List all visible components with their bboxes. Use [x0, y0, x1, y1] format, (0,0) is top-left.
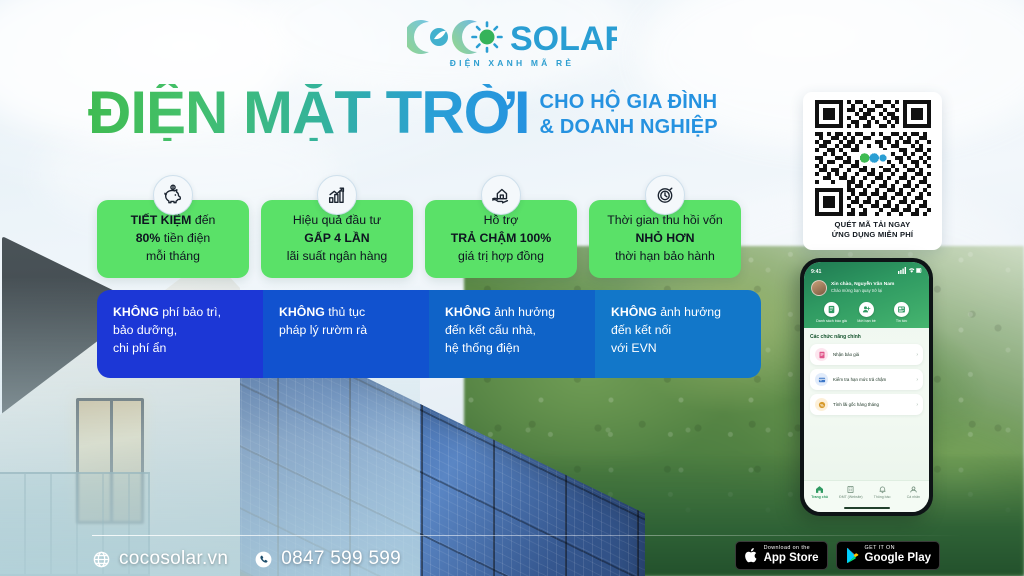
benefit-card[interactable]: Hỗ trợ TRẢ CHẬM 100% giá trị hợp đồng — [425, 200, 577, 278]
nav-label: ĐMT (Website) — [839, 495, 862, 499]
logo-mark: SOLAR — [407, 14, 617, 60]
globe-icon — [92, 550, 111, 569]
qr-caption-line1: QUÉT MÃ TẢI NGAY — [832, 220, 913, 230]
interest-calculator-icon: % — [815, 398, 828, 411]
no-card-line2: pháp lý rườm rà — [279, 323, 367, 337]
phone-menu-label: Kiểm tra hạn mức trả chậm — [833, 377, 911, 382]
no-card-rest: thủ tục — [325, 305, 365, 319]
benefit-line1: Hiệu quả đầu tư — [293, 213, 381, 227]
benefit-line1: Hỗ trợ — [484, 213, 519, 227]
phone-menu-label: Nhận báo giá — [833, 352, 911, 357]
phone-body: Các chức năng chính Nhận báo giá › Kiểm … — [804, 328, 929, 415]
banner-root: SOLAR ĐIỆN XANH MÃ RẺ ĐIỆN MẶT TRỜI CHO … — [0, 0, 1024, 576]
no-card-row: KHÔNG phí bảo trì, bảo dưỡng, chi phí ẩn… — [97, 290, 761, 378]
phone-menu-item[interactable]: Kiểm tra hạn mức trả chậm › — [810, 369, 923, 390]
phone-link[interactable]: 0847 599 599 — [254, 548, 401, 570]
user-icon — [909, 485, 918, 494]
phone-header: 9:41 Xin — [804, 262, 929, 328]
qr-caption-line2: ỨNG DỤNG MIỄN PHÍ — [832, 230, 913, 240]
qr-caption: QUÉT MÃ TẢI NGAY ỨNG DỤNG MIỄN PHÍ — [832, 220, 913, 241]
phone-bottom-nav: Trang chủ ĐMT (Website) Thông báo Cá nhâ… — [804, 480, 929, 512]
benefit-card-text: Thời gian thu hồi vốn NHỎ HƠN thời hạn b… — [601, 212, 728, 265]
benefit-line2-rest: tiền điện — [160, 231, 210, 245]
nav-item-dmt[interactable]: ĐMT (Website) — [836, 485, 866, 499]
nav-item-profile[interactable]: Cá nhân — [898, 485, 928, 499]
no-card-rest: ảnh hưởng — [657, 305, 721, 319]
benefit-line3: thời hạn bảo hành — [615, 249, 715, 263]
phone-menu-label: Tính lãi gốc hàng tháng — [833, 402, 911, 407]
footer-divider — [92, 535, 964, 536]
no-card-bold: KHÔNG — [279, 305, 325, 319]
benefit-card-row: TIẾT KIỆM đến 80% tiền điện mỗi tháng Hi… — [97, 200, 741, 278]
benefit-line1: Thời gian thu hồi vốn — [607, 213, 722, 227]
store-badges: Download on the App Store GET IT ON Goog… — [735, 541, 940, 570]
phone-quick-actions: Danh sách báo giá Mời bạn bè Tin tức — [811, 302, 922, 323]
no-card-line2: đến kết cấu nhà, — [445, 323, 536, 337]
no-card-bold: KHÔNG — [611, 305, 657, 319]
no-card[interactable]: KHÔNG ảnh hưởng đến kết nối với EVN — [595, 290, 761, 378]
no-card-line2: đến kết nối — [611, 323, 671, 337]
benefit-card[interactable]: TIẾT KIỆM đến 80% tiền điện mỗi tháng — [97, 200, 249, 278]
no-card-bold: KHÔNG — [445, 305, 491, 319]
quick-action-label: Danh sách báo giá — [816, 319, 847, 323]
no-card-line3: chi phí ẩn — [113, 341, 166, 355]
hand-house-icon — [481, 175, 521, 215]
website-text: cocosolar.vn — [119, 548, 228, 570]
receive-quote-icon — [815, 348, 828, 361]
headline-block: ĐIỆN MẶT TRỜI CHO HỘ GIA ĐÌNH & DOANH NG… — [88, 84, 718, 141]
footer: cocosolar.vn 0847 599 599 — [92, 548, 401, 570]
home-icon — [815, 485, 824, 494]
nav-label: Thông báo — [874, 495, 891, 499]
no-card-bold: KHÔNG — [113, 305, 159, 319]
headline-subtitle: CHO HỘ GIA ĐÌNH & DOANH NGHIỆP — [539, 90, 717, 140]
invite-friends-icon — [859, 302, 874, 317]
phone-menu-item[interactable]: Nhận báo giá › — [810, 344, 923, 365]
phone-mockup: 9:41 Xin — [800, 258, 933, 516]
brand-logo[interactable]: SOLAR — [407, 14, 617, 60]
phone-status-bar: 9:41 — [811, 267, 922, 276]
benefit-line3: lãi suất ngân hàng — [287, 249, 388, 263]
news-icon — [894, 302, 909, 317]
no-card-line3: hệ thống điện — [445, 341, 520, 355]
phone-menu-item[interactable]: % Tính lãi gốc hàng tháng › — [810, 394, 923, 415]
quick-action-item[interactable]: Danh sách báo giá — [815, 302, 848, 323]
avatar — [811, 280, 827, 296]
no-card-line2: bảo dưỡng, — [113, 323, 177, 337]
svg-text:SOLAR: SOLAR — [510, 20, 617, 58]
apple-icon — [744, 547, 759, 564]
quick-action-item[interactable]: Tin tức — [885, 302, 918, 323]
logo-tagline: ĐIỆN XANH MÃ RẺ — [450, 58, 575, 68]
building-icon — [846, 485, 855, 494]
house-illustration — [0, 236, 460, 576]
phone-greeting: Xin chào, Nguyễn Văn Nam Chào mừng bạn q… — [811, 280, 922, 296]
benefit-line1-bold: TIẾT KIỆM — [131, 213, 192, 227]
no-card[interactable]: KHÔNG thủ tục pháp lý rườm rà — [263, 290, 429, 378]
no-card[interactable]: KHÔNG phí bảo trì, bảo dưỡng, chi phí ẩn — [97, 290, 263, 378]
phone-section-title: Các chức năng chính — [810, 334, 923, 340]
no-card[interactable]: KHÔNG ảnh hưởng đến kết cấu nhà, hệ thốn… — [429, 290, 595, 378]
benefit-line2-bold: NHỎ HƠN — [636, 231, 695, 245]
benefit-line3: giá trị hợp đồng — [458, 249, 544, 263]
status-time: 9:41 — [811, 269, 821, 275]
piggy-bank-icon — [153, 175, 193, 215]
benefit-line2-bold: 80% — [136, 231, 161, 245]
benefit-line3: mỗi tháng — [146, 249, 200, 263]
quick-action-item[interactable]: Mời bạn bè — [850, 302, 883, 323]
growth-chart-icon — [317, 175, 357, 215]
phone-text: 0847 599 599 — [281, 548, 401, 570]
benefit-line2-bold: GẤP 4 LẦN — [304, 231, 369, 245]
stopwatch-icon — [645, 175, 685, 215]
benefit-card[interactable]: Thời gian thu hồi vốn NHỎ HƠN thời hạn b… — [589, 200, 741, 278]
benefit-card-text: TIẾT KIỆM đến 80% tiền điện mỗi tháng — [125, 212, 222, 265]
quote-list-icon — [824, 302, 839, 317]
nav-label: Trang chủ — [811, 495, 828, 499]
website-link[interactable]: cocosolar.vn — [92, 548, 228, 570]
benefit-card-text: Hiệu quả đầu tư GẤP 4 LẦN lãi suất ngân … — [281, 212, 394, 265]
nav-item-notifications[interactable]: Thông báo — [867, 485, 897, 499]
benefit-card[interactable]: Hiệu quả đầu tư GẤP 4 LẦN lãi suất ngân … — [261, 200, 413, 278]
chevron-right-icon: › — [916, 402, 918, 408]
chevron-right-icon: › — [916, 377, 918, 383]
app-store-big: App Store — [764, 552, 819, 565]
status-icons — [898, 267, 922, 276]
benefit-card-text: Hỗ trợ TRẢ CHẬM 100% giá trị hợp đồng — [445, 212, 557, 265]
bell-icon — [878, 485, 887, 494]
qr-panel[interactable]: QUÉT MÃ TẢI NGAY ỨNG DỤNG MIỄN PHÍ — [803, 92, 942, 250]
google-play-big: Google Play — [865, 552, 931, 565]
google-play-badge[interactable]: GET IT ON Google Play — [836, 541, 940, 570]
greeting-welcome: Chào mừng bạn quay trở lại — [831, 288, 894, 293]
google-play-icon — [845, 547, 860, 564]
phone-icon — [254, 550, 273, 569]
phone-screen: 9:41 Xin — [804, 262, 929, 512]
qr-code-image — [815, 100, 931, 216]
nav-item-home[interactable]: Trang chủ — [805, 485, 835, 499]
chevron-right-icon: › — [916, 352, 918, 358]
no-card-rest: phí bảo trì, — [159, 305, 221, 319]
no-card-line3: với EVN — [611, 341, 657, 355]
headline-sub-line1: CHO HỘ GIA ĐÌNH — [539, 90, 717, 115]
credit-limit-icon — [815, 373, 828, 386]
no-card-rest: ảnh hưởng — [491, 305, 555, 319]
benefit-line2-bold: TRẢ CHẬM 100% — [451, 231, 551, 245]
headline-sub-line2: & DOANH NGHIỆP — [539, 115, 717, 140]
home-indicator — [844, 507, 890, 510]
quick-action-label: Tin tức — [896, 319, 907, 323]
benefit-line1-rest: đến — [191, 213, 215, 227]
page-title: ĐIỆN MẶT TRỜI — [88, 84, 529, 141]
app-store-badge[interactable]: Download on the App Store — [735, 541, 828, 570]
quick-action-label: Mời bạn bè — [857, 319, 876, 323]
nav-label: Cá nhân — [907, 495, 920, 499]
